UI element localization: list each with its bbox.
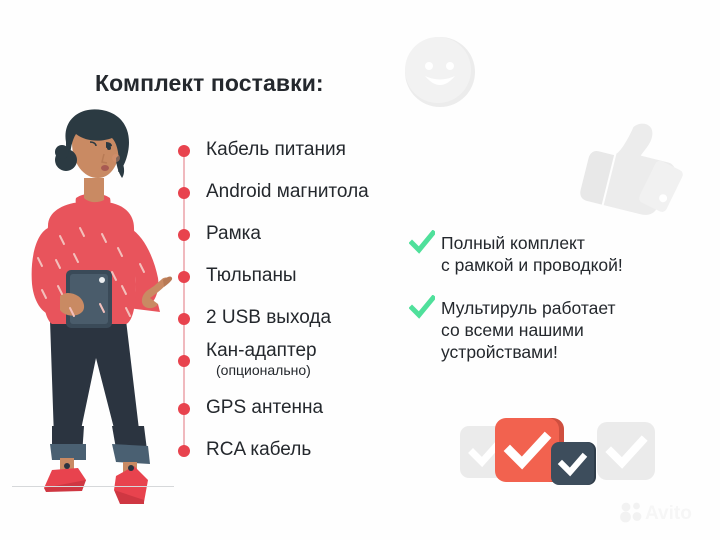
checkbox-card-red <box>495 418 559 482</box>
bullet-dot <box>178 403 190 415</box>
bullet-dot <box>178 229 190 241</box>
list-item-sublabel: (опционально) <box>216 361 311 379</box>
list-item-label: 2 USB выхода <box>206 306 331 329</box>
list-item-label: Рамка <box>206 222 261 245</box>
bullet-dot <box>178 355 190 367</box>
thumbs-up-icon <box>578 114 688 218</box>
avito-watermark-text: Avito <box>645 503 692 524</box>
list-item-label: Android магнитола <box>206 180 369 203</box>
smiley-face-icon <box>404 36 476 108</box>
page-title: Комплект поставки: <box>95 70 324 97</box>
list-item-label: Кабель питания <box>206 138 346 161</box>
promo-image: Комплект поставки: Кабель питания Androi… <box>0 0 720 540</box>
bullet-dot <box>178 445 190 457</box>
avito-watermark: Avito <box>618 500 704 524</box>
bullet-dot <box>178 187 190 199</box>
bullet-dot <box>178 313 190 325</box>
list-item-label: Кан-адаптер <box>206 339 317 362</box>
checkbox-cards-decoration <box>460 404 660 504</box>
green-check-icon <box>409 295 435 321</box>
ground-line <box>12 486 174 487</box>
benefit-item: Полный комплект с рамкой и проводкой! <box>409 232 623 276</box>
list-item-label: Тюльпаны <box>206 264 297 287</box>
woman-pointing-illustration <box>8 108 178 508</box>
green-check-icon <box>409 230 435 256</box>
benefit-text: Полный комплект с рамкой и проводкой! <box>441 232 623 276</box>
bullet-dot <box>178 271 190 283</box>
checkbox-card-dark <box>551 442 594 485</box>
list-item-label: RCA кабель <box>206 438 311 461</box>
bullet-dot <box>178 145 190 157</box>
list-item-label: GPS антенна <box>206 396 323 419</box>
benefit-text: Мультируль работает со всеми нашими устр… <box>441 297 616 363</box>
benefit-item: Мультируль работает со всеми нашими устр… <box>409 297 616 363</box>
checkbox-card-grey-right <box>597 422 655 480</box>
